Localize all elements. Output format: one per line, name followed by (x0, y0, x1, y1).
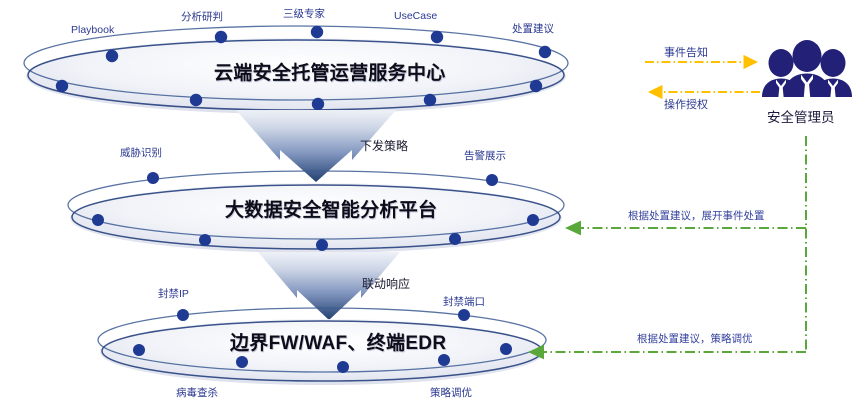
ring-edge-node-dot[interactable] (177, 309, 189, 321)
orange-label-event-notify: 事件告知 (664, 44, 708, 60)
ring-bigdata-node-dot[interactable] (92, 214, 104, 226)
ring-cloud-node-dot[interactable] (56, 80, 68, 92)
ring-cloud-node-label-expert: 三级专家 (283, 9, 325, 20)
ring-cloud-node-dot[interactable] (311, 26, 323, 38)
ring-cloud-title: 云端安全托管运营服务中心 (214, 58, 446, 85)
ring-cloud-node-dot[interactable] (530, 80, 542, 92)
ring-cloud-node-dot[interactable] (106, 50, 118, 62)
ring-edge-node-dot[interactable] (236, 356, 248, 368)
ring-cloud-node-dot[interactable] (312, 98, 324, 110)
ring-cloud-node-label-analysis: 分析研判 (181, 12, 223, 23)
ring-cloud-node-label-advice: 处置建议 (512, 24, 554, 35)
ring-edge-node-dot[interactable] (337, 361, 349, 373)
ring-cloud-node-dot[interactable] (424, 94, 436, 106)
ring-bigdata-node-dot[interactable] (527, 214, 539, 226)
ring-edge-title: 边界FW/WAF、终端EDR (230, 328, 446, 355)
ring-edge-node-dot[interactable] (438, 354, 450, 366)
ring-edge-node-dot[interactable] (133, 344, 145, 356)
diagram-canvas: 云端安全托管运营服务中心 Playbook 分析研判 三级专家 UseCase … (0, 0, 864, 414)
green-label-incident-handling: 根据处置建议，展开事件处置 (628, 208, 765, 223)
orange-label-operation-auth: 操作授权 (664, 96, 708, 112)
security-admin-icon (762, 40, 852, 100)
ring-cloud-node-dot[interactable] (190, 94, 202, 106)
ring-bigdata-node-dot[interactable] (199, 234, 211, 246)
ring-cloud-node-dot[interactable] (431, 31, 443, 43)
green-label-policy-tuning: 根据处置建议，策略调优 (637, 331, 753, 346)
security-admin-label: 安全管理员 (767, 106, 835, 126)
ring-cloud-node-label-usecase: UseCase (394, 11, 437, 22)
ring-cloud-node-dot[interactable] (539, 46, 551, 58)
ring-bigdata-node-label-alert: 告警展示 (464, 151, 506, 162)
ring-bigdata-node-dot[interactable] (486, 174, 498, 186)
flow-label-policy-down: 下发策略 (360, 137, 408, 154)
ring-edge-node-dot[interactable] (458, 309, 470, 321)
ring-edge-node-label-block-ip: 封禁IP (158, 289, 189, 300)
ring-edge-node-label-block-port: 封禁端口 (443, 297, 485, 308)
ring-edge-node-label-antivirus: 病毒查杀 (176, 388, 218, 399)
ring-bigdata-title: 大数据安全智能分析平台 (225, 195, 437, 222)
ring-edge-node-dot[interactable] (500, 343, 512, 355)
ring-cloud-node-label-playbook: Playbook (71, 25, 114, 36)
flow-label-linkage-response: 联动响应 (362, 275, 410, 292)
ring-edge-node-label-policy-tuning: 策略调优 (430, 388, 472, 399)
ring-bigdata-node-dot[interactable] (449, 233, 461, 245)
ring-bigdata-node-label-threat: 威胁识别 (120, 148, 162, 159)
ring-cloud-node-dot[interactable] (215, 31, 227, 43)
green-feedback-route (530, 136, 806, 352)
ring-bigdata-node-dot[interactable] (147, 172, 159, 184)
orange-arrows-group (645, 62, 760, 92)
ring-bigdata-node-dot[interactable] (316, 239, 328, 251)
